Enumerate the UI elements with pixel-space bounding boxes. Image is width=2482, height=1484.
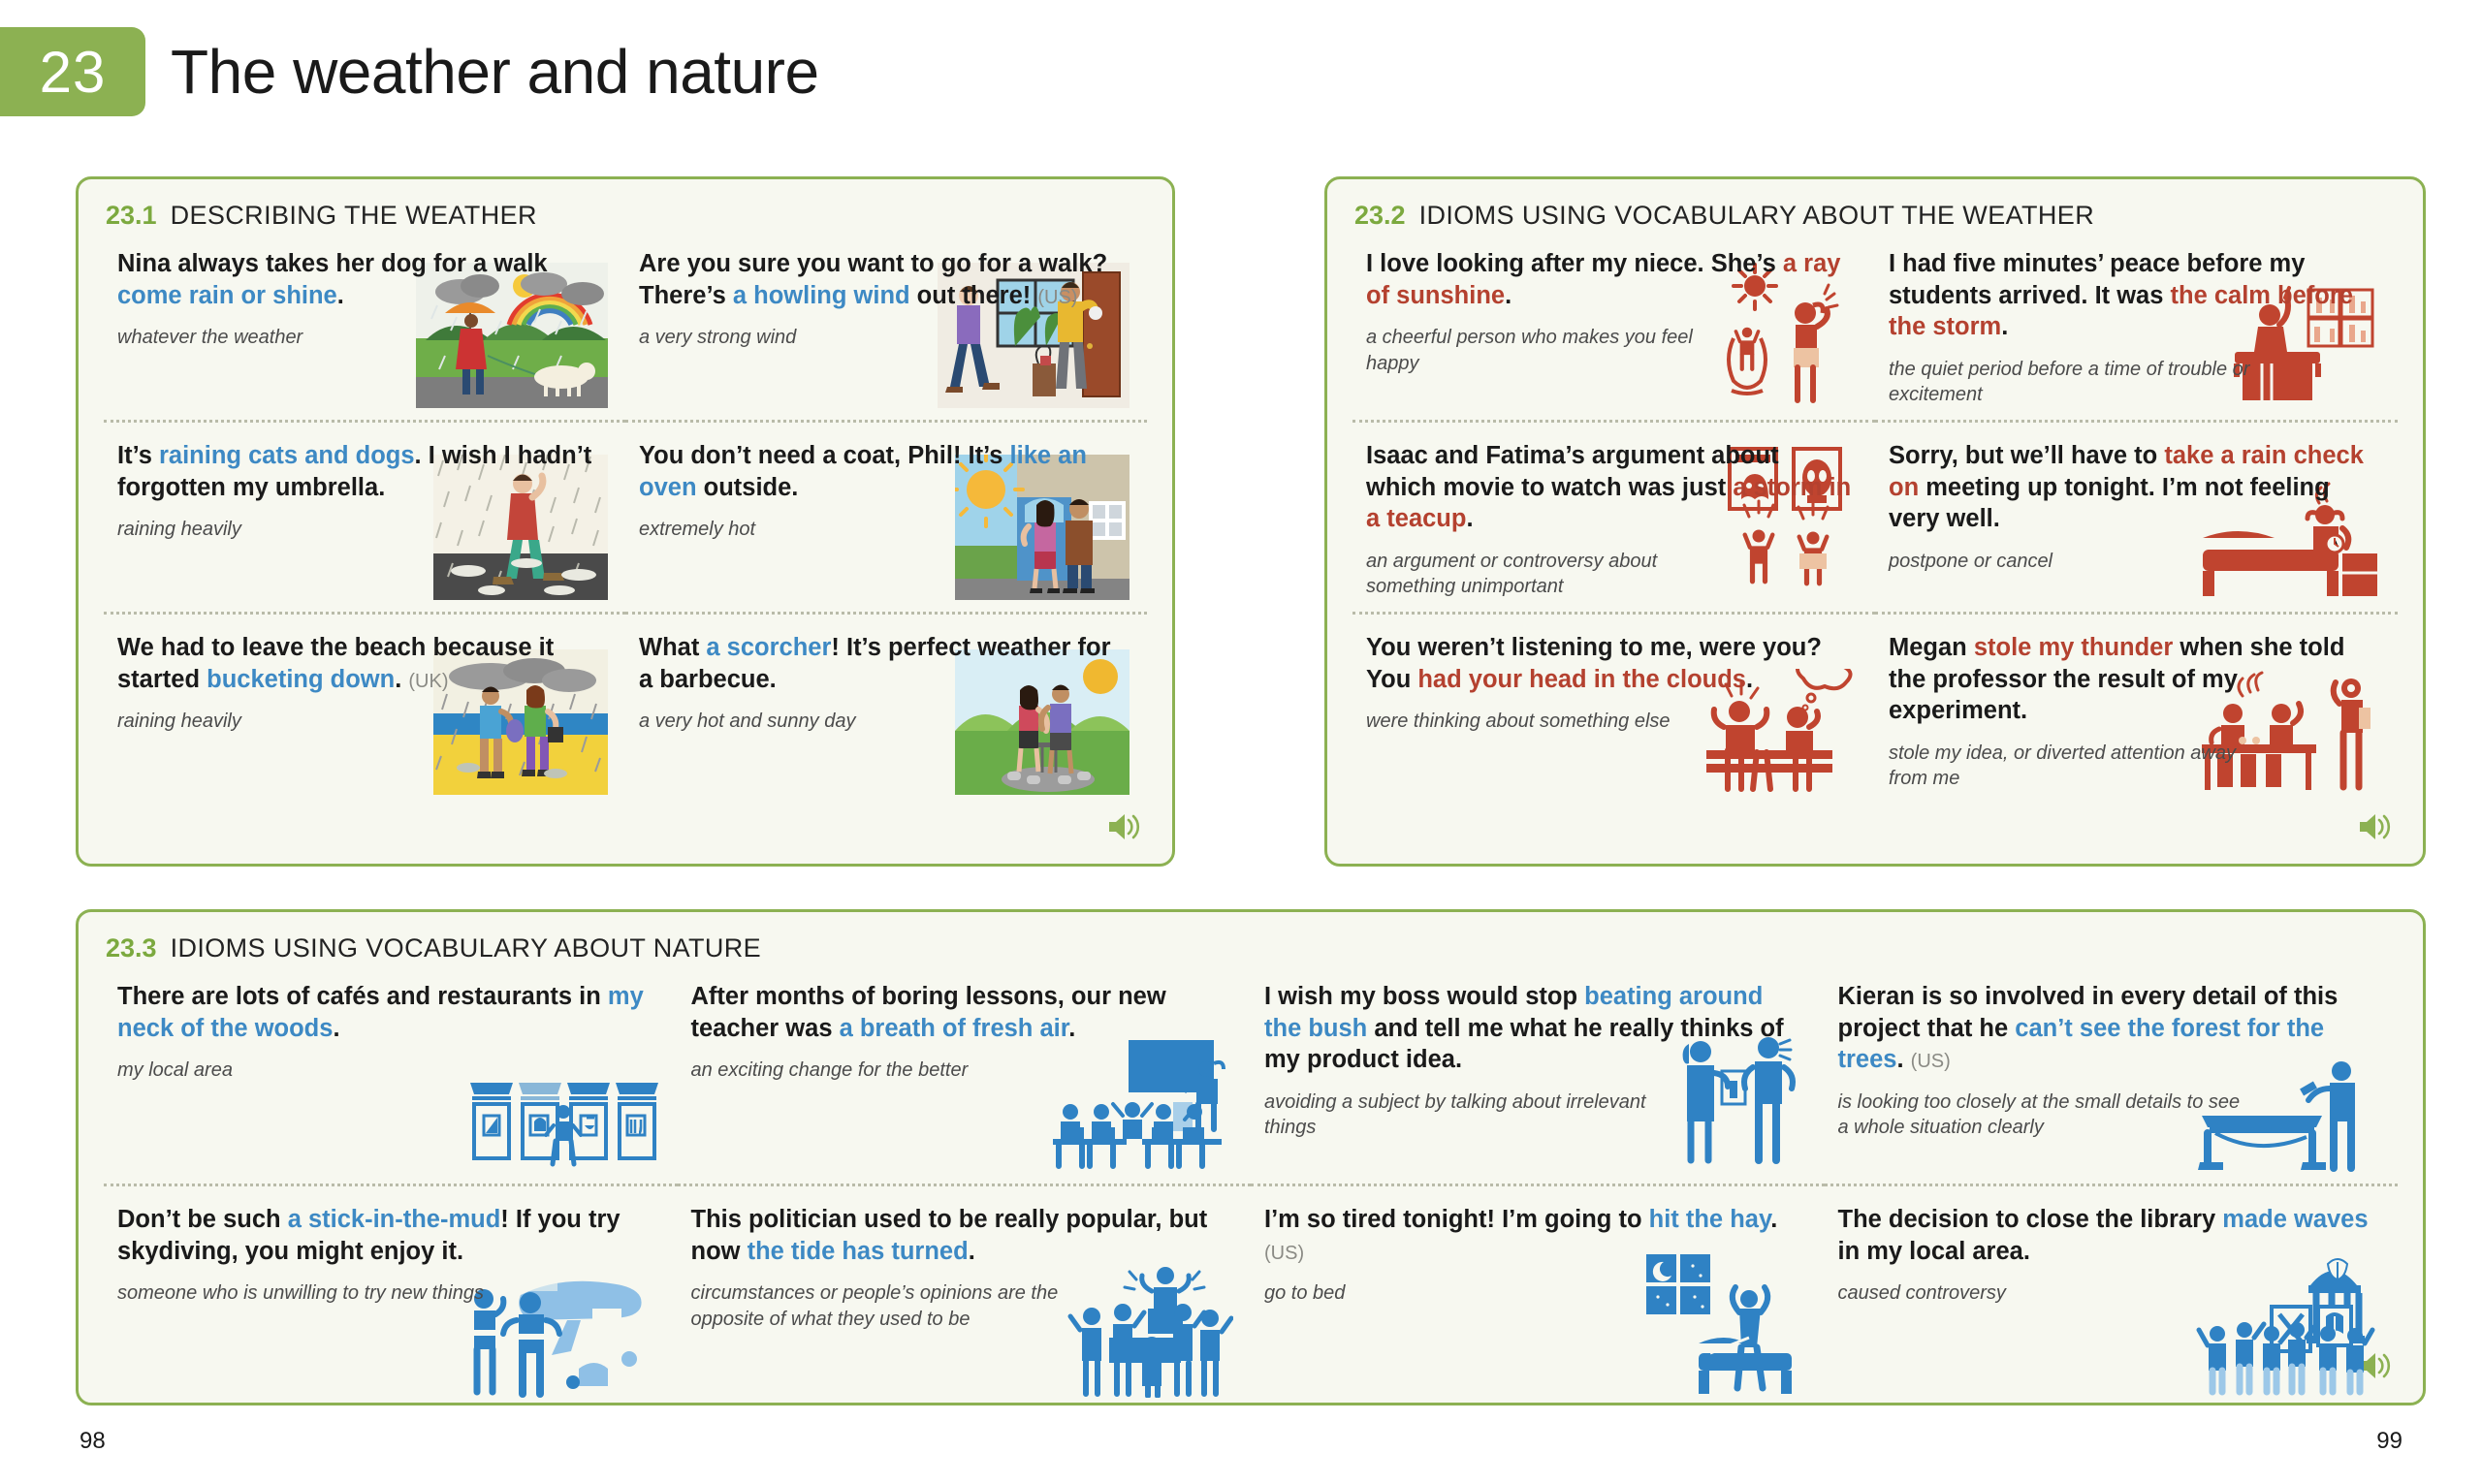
example-sentence: I had five minutes’ peace before my stud… bbox=[1889, 248, 2376, 343]
vocab-entry: The decision to close the library made w… bbox=[1825, 1186, 2399, 1409]
vocab-entry: You don’t need a coat, Phil! It’s like a… bbox=[625, 423, 1147, 615]
idiom-definition: avoiding a subject by talking about irre… bbox=[1264, 1089, 1673, 1141]
region-tag: (US) bbox=[1264, 1243, 1304, 1264]
vocab-entry: Sorry, but we’ll have to take a rain che… bbox=[1875, 423, 2398, 615]
sentence-suffix: out there! bbox=[910, 282, 1032, 309]
idiom-definition: raining heavily bbox=[117, 517, 488, 543]
vocab-entry: Don’t be such a stick-in-the-mud! If you… bbox=[104, 1186, 678, 1409]
sentence-suffix: . bbox=[1068, 1015, 1075, 1042]
idiom-phrase: a breath of fresh air bbox=[840, 1015, 1069, 1042]
idiom-phrase: raining cats and dogs bbox=[159, 442, 415, 469]
idiom-phrase: a howling wind bbox=[733, 282, 910, 309]
vocab-entry: I’m so tired tonight! I’m going to hit t… bbox=[1251, 1186, 1825, 1409]
idiom-definition: an exciting change for the better bbox=[691, 1058, 1100, 1084]
section-number: 23.1 bbox=[106, 201, 157, 231]
idiom-definition: raining heavily bbox=[117, 709, 488, 735]
section-heading: DESCRIBING THE WEATHER bbox=[171, 201, 537, 231]
example-sentence: Megan stole my thunder when she told the… bbox=[1889, 632, 2376, 727]
sentence-suffix: . bbox=[1896, 1046, 1903, 1073]
example-sentence: Isaac and Fatima’s argument about which … bbox=[1366, 440, 1854, 535]
idiom-definition: a very hot and sunny day bbox=[639, 709, 1009, 735]
idiom-definition: the quiet period before a time of troubl… bbox=[1889, 357, 2259, 408]
section-panel-23-1: 23.1 DESCRIBING THE WEATHER Nina always … bbox=[76, 176, 1175, 867]
idiom-definition: circumstances or people’s opinions are t… bbox=[691, 1280, 1100, 1332]
sentence-prefix: I’m so tired tonight! I’m going to bbox=[1264, 1206, 1649, 1233]
vocab-entry: Megan stole my thunder when she told the… bbox=[1875, 615, 2398, 806]
sentence-suffix: meeting up tonight. I’m not feeling very… bbox=[1889, 474, 2330, 533]
idiom-definition: go to bed bbox=[1264, 1280, 1673, 1307]
section-number: 23.3 bbox=[106, 933, 157, 963]
idiom-definition: a cheerful person who makes you feel hap… bbox=[1366, 325, 1736, 376]
section-panel-23-3: 23.3 IDIOMS USING VOCABULARY ABOUT NATUR… bbox=[76, 909, 2426, 1405]
idiom-definition: an argument or controversy about somethi… bbox=[1366, 549, 1736, 600]
idiom-phrase: bucketing down bbox=[207, 666, 395, 693]
section-heading: IDIOMS USING VOCABULARY ABOUT THE WEATHE… bbox=[1419, 201, 2095, 231]
idiom-definition: extremely hot bbox=[639, 517, 1009, 543]
textbook-spread: 23 The weather and nature 23.1 DESCRIBIN… bbox=[0, 0, 2482, 1484]
entry-grid: There are lots of cafés and restaurants … bbox=[79, 963, 2423, 1409]
sentence-suffix: . bbox=[1746, 666, 1753, 693]
region-tag: (US) bbox=[1037, 287, 1077, 308]
section-heading: IDIOMS USING VOCABULARY ABOUT NATURE bbox=[171, 933, 762, 963]
vocab-entry: Kieran is so involved in every detail of… bbox=[1825, 963, 2399, 1186]
example-sentence: You weren’t listening to me, were you? Y… bbox=[1366, 632, 1854, 695]
example-sentence: I wish my boss would stop beating around… bbox=[1264, 981, 1803, 1076]
entry-grid: Nina always takes her dog for a walk com… bbox=[79, 231, 1172, 806]
protesters-with-signs-outside-library-illustration bbox=[2196, 1252, 2380, 1398]
idiom-phrase: hit the hay bbox=[1649, 1206, 1771, 1233]
sentence-suffix: . bbox=[1770, 1206, 1777, 1233]
sentence-prefix: The decision to close the library bbox=[1838, 1206, 2223, 1233]
section-panel-23-2: 23.2 IDIOMS USING VOCABULARY ABOUT THE W… bbox=[1324, 176, 2426, 867]
example-sentence: I’m so tired tonight! I’m going to hit t… bbox=[1264, 1204, 1803, 1267]
sentence-prefix: You don’t need a coat, Phil! It’s bbox=[639, 442, 1010, 469]
region-tag: (US) bbox=[1911, 1051, 1951, 1072]
example-sentence: There are lots of cafés and restaurants … bbox=[117, 981, 656, 1044]
idiom-definition: postpone or cancel bbox=[1889, 549, 2259, 575]
example-sentence: Nina always takes her dog for a walk com… bbox=[117, 248, 604, 311]
idiom-phrase: stole my thunder bbox=[1974, 634, 2173, 661]
example-sentence: After months of boring lessons, our new … bbox=[691, 981, 1230, 1044]
page-number-left: 98 bbox=[80, 1428, 106, 1455]
vocab-entry: Isaac and Fatima’s argument about which … bbox=[1352, 423, 1875, 615]
idiom-definition: someone who is unwilling to try new thin… bbox=[117, 1280, 526, 1307]
idiom-phrase: a scorcher bbox=[706, 634, 831, 661]
example-sentence: This politician used to be really popula… bbox=[691, 1204, 1230, 1267]
idiom-phrase: a stick-in-the-mud bbox=[288, 1206, 501, 1233]
sentence-suffix: . bbox=[1505, 282, 1511, 309]
sentence-prefix: There are lots of cafés and restaurants … bbox=[117, 983, 608, 1010]
example-sentence: The decision to close the library made w… bbox=[1838, 1204, 2377, 1267]
idiom-definition: stole my idea, or diverted attention awa… bbox=[1889, 741, 2259, 792]
example-sentence: We had to leave the beach because it sta… bbox=[117, 632, 604, 695]
idiom-phrase: had your head in the clouds bbox=[1417, 666, 1746, 693]
vocab-entry: Are you sure you want to go for a walk? … bbox=[625, 231, 1147, 423]
sentence-suffix: in my local area. bbox=[1838, 1238, 2030, 1265]
region-tag: (UK) bbox=[408, 671, 448, 692]
vocab-entry: I had five minutes’ peace before my stud… bbox=[1875, 231, 2398, 423]
section-header-23-2: 23.2 IDIOMS USING VOCABULARY ABOUT THE W… bbox=[1327, 179, 2423, 231]
sentence-suffix: . bbox=[1466, 505, 1473, 532]
example-sentence: Kieran is so involved in every detail of… bbox=[1838, 981, 2377, 1076]
vocab-entry: You weren’t listening to me, were you? Y… bbox=[1352, 615, 1875, 806]
vocab-entry: I wish my boss would stop beating around… bbox=[1251, 963, 1825, 1186]
example-sentence: Don’t be such a stick-in-the-mud! If you… bbox=[117, 1204, 656, 1267]
example-sentence: Sorry, but we’ll have to take a rain che… bbox=[1889, 440, 2376, 535]
section-header-23-1: 23.1 DESCRIBING THE WEATHER bbox=[79, 179, 1172, 231]
section-header-23-3: 23.3 IDIOMS USING VOCABULARY ABOUT NATUR… bbox=[79, 912, 2423, 963]
sentence-prefix: Nina always takes her dog for a walk bbox=[117, 250, 548, 277]
idiom-definition: is looking too closely at the small deta… bbox=[1838, 1089, 2247, 1141]
vocab-entry: After months of boring lessons, our new … bbox=[678, 963, 1252, 1186]
sentence-suffix: . bbox=[395, 666, 401, 693]
example-sentence: I love looking after my niece. She’s a r… bbox=[1366, 248, 1854, 311]
sentence-prefix: What bbox=[639, 634, 706, 661]
page-number-right: 99 bbox=[2376, 1428, 2402, 1455]
vocab-entry: I love looking after my niece. She’s a r… bbox=[1352, 231, 1875, 423]
sentence-prefix: I love looking after my niece. She’s bbox=[1366, 250, 1783, 277]
sentence-suffix: . bbox=[333, 1015, 339, 1042]
sentence-prefix: Don’t be such bbox=[117, 1206, 288, 1233]
sentence-suffix: . bbox=[969, 1238, 975, 1265]
sentence-prefix: It’s bbox=[117, 442, 159, 469]
idiom-phrase: come rain or shine bbox=[117, 282, 337, 309]
chapter-number-badge: 23 bbox=[0, 27, 145, 116]
idiom-definition: caused controversy bbox=[1838, 1280, 2247, 1307]
sentence-suffix: outside. bbox=[697, 474, 799, 501]
sentence-prefix: Sorry, but we’ll have to bbox=[1889, 442, 2164, 469]
sentence-suffix: . bbox=[2001, 313, 2008, 340]
example-sentence: It’s raining cats and dogs. I wish I had… bbox=[117, 440, 604, 503]
idiom-definition: were thinking about something else bbox=[1366, 709, 1736, 735]
sentence-prefix: I wish my boss would stop bbox=[1264, 983, 1584, 1010]
example-sentence: What a scorcher! It’s perfect weather fo… bbox=[639, 632, 1126, 695]
teacher-at-whiteboard-with-class-illustration bbox=[1049, 1036, 1233, 1172]
entry-grid: I love looking after my niece. She’s a r… bbox=[1327, 231, 2423, 806]
sentence-prefix: Isaac and Fatima’s argument about which … bbox=[1366, 442, 1779, 501]
speaker-audio-icon[interactable] bbox=[1106, 810, 1143, 848]
vocab-entry: It’s raining cats and dogs. I wish I had… bbox=[104, 423, 625, 615]
idiom-phrase: the tide has turned bbox=[748, 1238, 969, 1265]
idiom-phrase: made waves bbox=[2222, 1206, 2368, 1233]
idiom-definition: my local area bbox=[117, 1058, 526, 1084]
example-sentence: Are you sure you want to go for a walk? … bbox=[639, 248, 1126, 311]
vocab-entry: There are lots of cafés and restaurants … bbox=[104, 963, 678, 1186]
sentence-suffix: . bbox=[337, 282, 344, 309]
vocab-entry: We had to leave the beach because it sta… bbox=[104, 615, 625, 806]
sentence-prefix: Megan bbox=[1889, 634, 1974, 661]
page-title: 23 The weather and nature bbox=[0, 27, 819, 116]
chapter-title-text: The weather and nature bbox=[171, 36, 819, 108]
idiom-definition: whatever the weather bbox=[117, 325, 488, 351]
idiom-definition: a very strong wind bbox=[639, 325, 1009, 351]
vocab-entry: This politician used to be really popula… bbox=[678, 1186, 1252, 1409]
speaker-audio-icon[interactable] bbox=[2357, 810, 2394, 848]
example-sentence: You don’t need a coat, Phil! It’s like a… bbox=[639, 440, 1126, 503]
section-number: 23.2 bbox=[1354, 201, 1406, 231]
person-stretching-by-bed-at-night-illustration bbox=[1642, 1252, 1807, 1398]
vocab-entry: Nina always takes her dog for a walk com… bbox=[104, 231, 625, 423]
vocab-entry: What a scorcher! It’s perfect weather fo… bbox=[625, 615, 1147, 806]
